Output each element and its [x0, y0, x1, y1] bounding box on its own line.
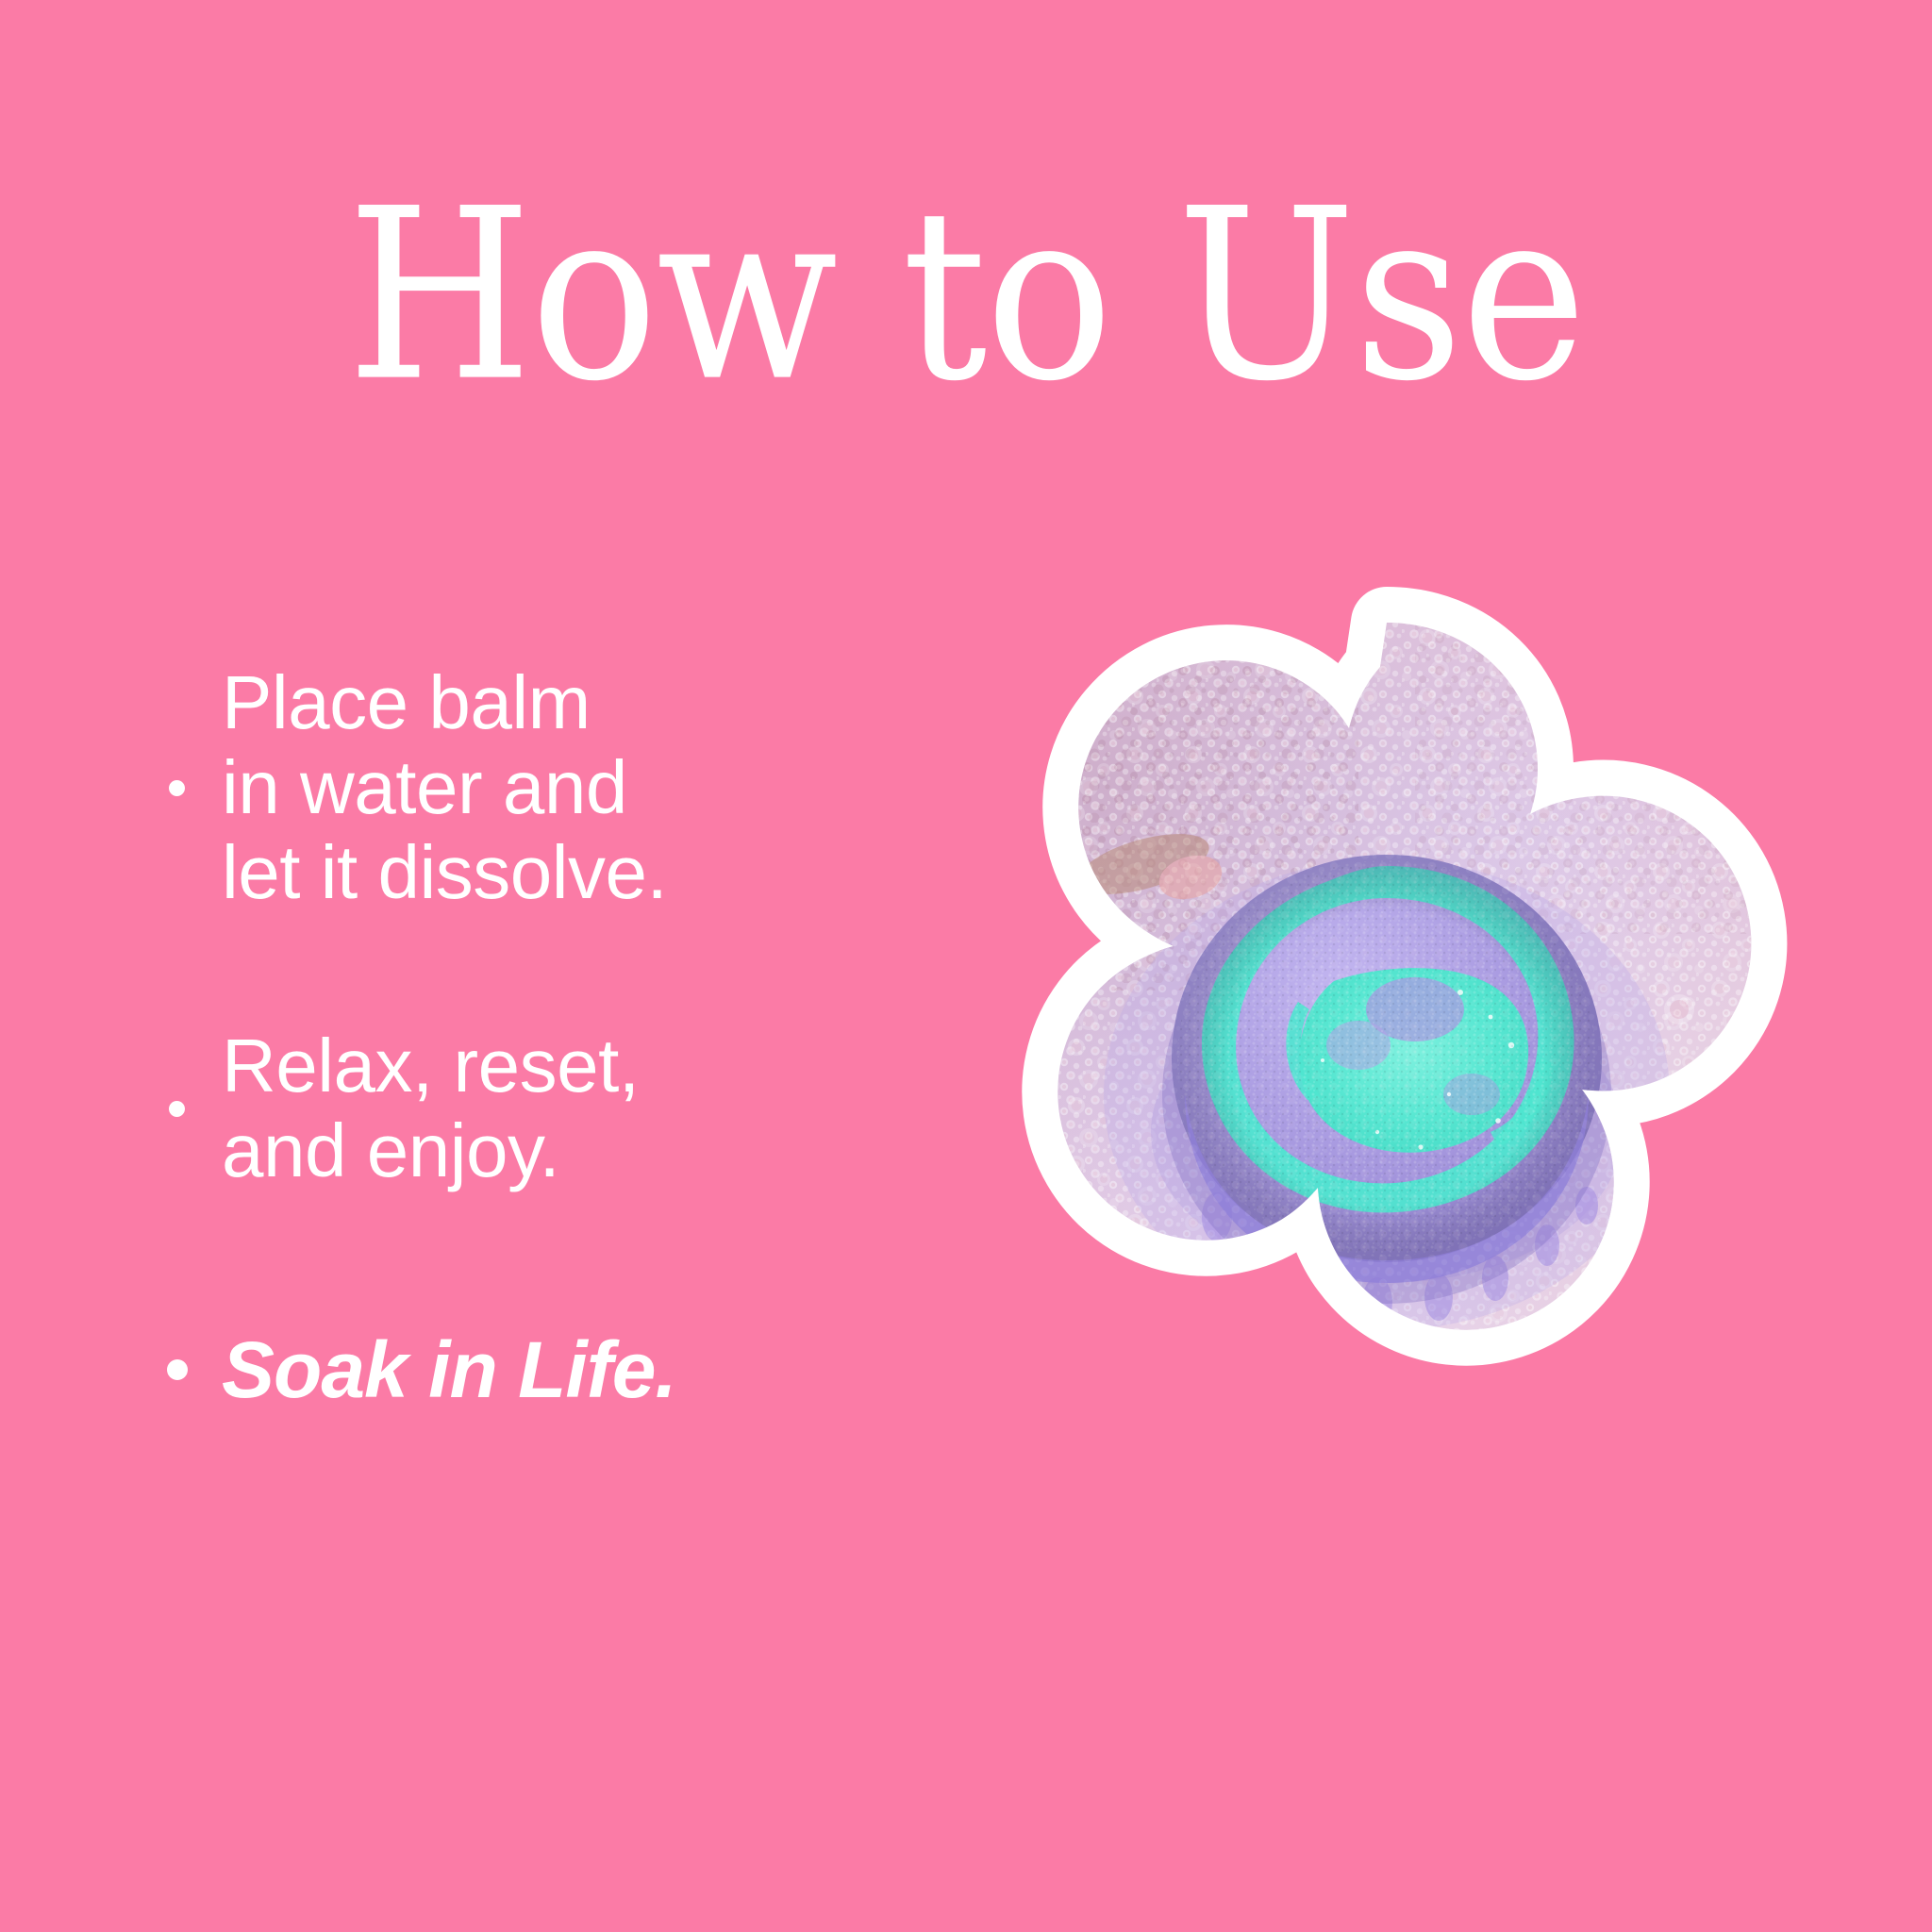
- bullet-marker-3: [132, 1359, 222, 1380]
- instruction-text-2: Relax, reset, and enjoy.: [222, 1024, 640, 1193]
- list-item: Soak in Life.: [132, 1325, 811, 1415]
- product-photo-flower: [887, 566, 1887, 1566]
- bullet-dot-icon: [169, 780, 185, 796]
- bullet-marker-2: [132, 1101, 222, 1117]
- instructions-list: Place balm in water and let it dissolve.…: [132, 660, 811, 1415]
- page-title: How to Use: [29, 177, 1904, 414]
- flower-mask-svg: [887, 566, 1887, 1566]
- poster-canvas: How to Use Place balm in water and let i…: [0, 0, 1932, 1932]
- list-item: Relax, reset, and enjoy.: [132, 1024, 811, 1193]
- bullet-dot-icon: [167, 1359, 188, 1380]
- bullet-dot-icon: [169, 1101, 185, 1117]
- instruction-text-3: Soak in Life.: [222, 1325, 676, 1415]
- bullet-marker-1: [132, 780, 222, 796]
- list-item: Place balm in water and let it dissolve.: [132, 660, 811, 915]
- instruction-text-1: Place balm in water and let it dissolve.: [222, 660, 667, 915]
